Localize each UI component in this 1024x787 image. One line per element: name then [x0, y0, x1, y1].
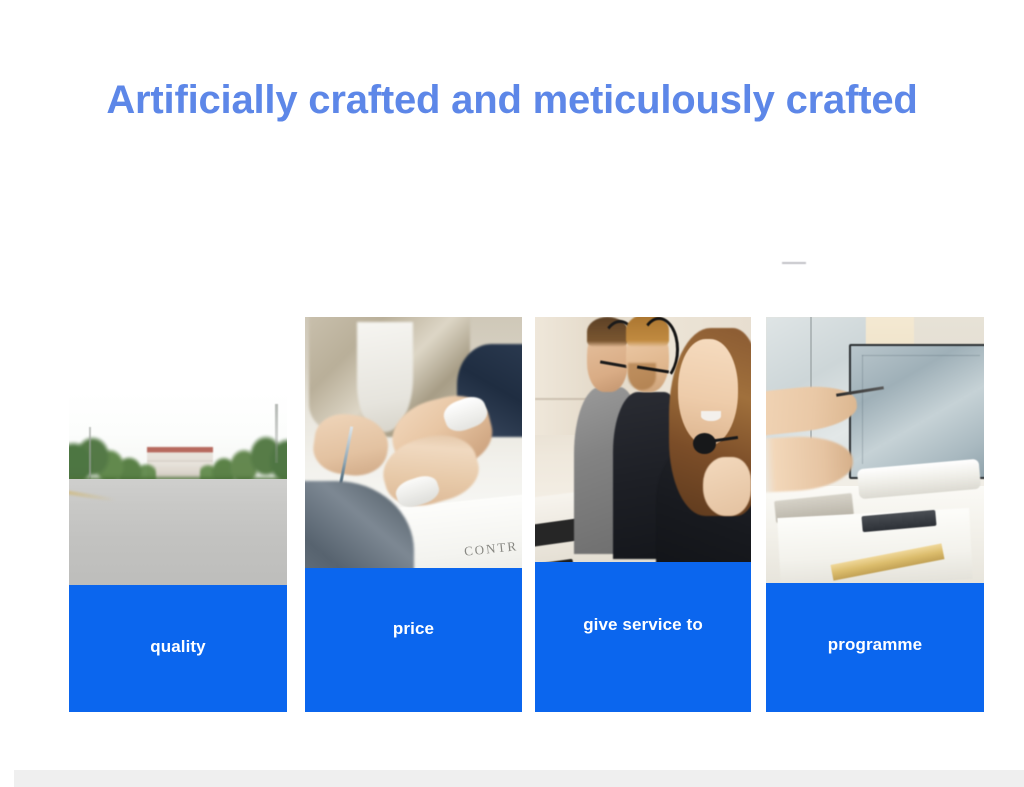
card-label-quality: quality	[69, 585, 287, 712]
engineering-desk-photo	[766, 317, 984, 589]
agent-three-face	[678, 339, 738, 447]
campus-road	[69, 479, 287, 589]
card-label-price: price	[305, 568, 522, 712]
antenna-tower	[275, 404, 278, 463]
agent-three-smile	[701, 411, 720, 420]
call-centre-photo	[535, 317, 751, 586]
feature-card-price[interactable]: CONTR price	[305, 317, 522, 712]
card-label-programme: programme	[766, 583, 984, 712]
handshake-contract-photo: CONTR	[305, 317, 522, 590]
feature-card-programme[interactable]: programme	[766, 317, 984, 712]
feature-card-quality[interactable]: quality	[69, 392, 287, 712]
monitor-technical-drawing	[862, 355, 980, 464]
light-pole	[89, 427, 91, 478]
feature-card-deck: quality CONTR price	[0, 0, 1024, 787]
factory-campus-photo	[69, 392, 287, 589]
card-label-service: give service to	[535, 562, 751, 712]
agent-three-hand	[703, 457, 751, 516]
bottom-strip	[14, 770, 1024, 787]
feature-card-service[interactable]: give service to	[535, 317, 751, 712]
